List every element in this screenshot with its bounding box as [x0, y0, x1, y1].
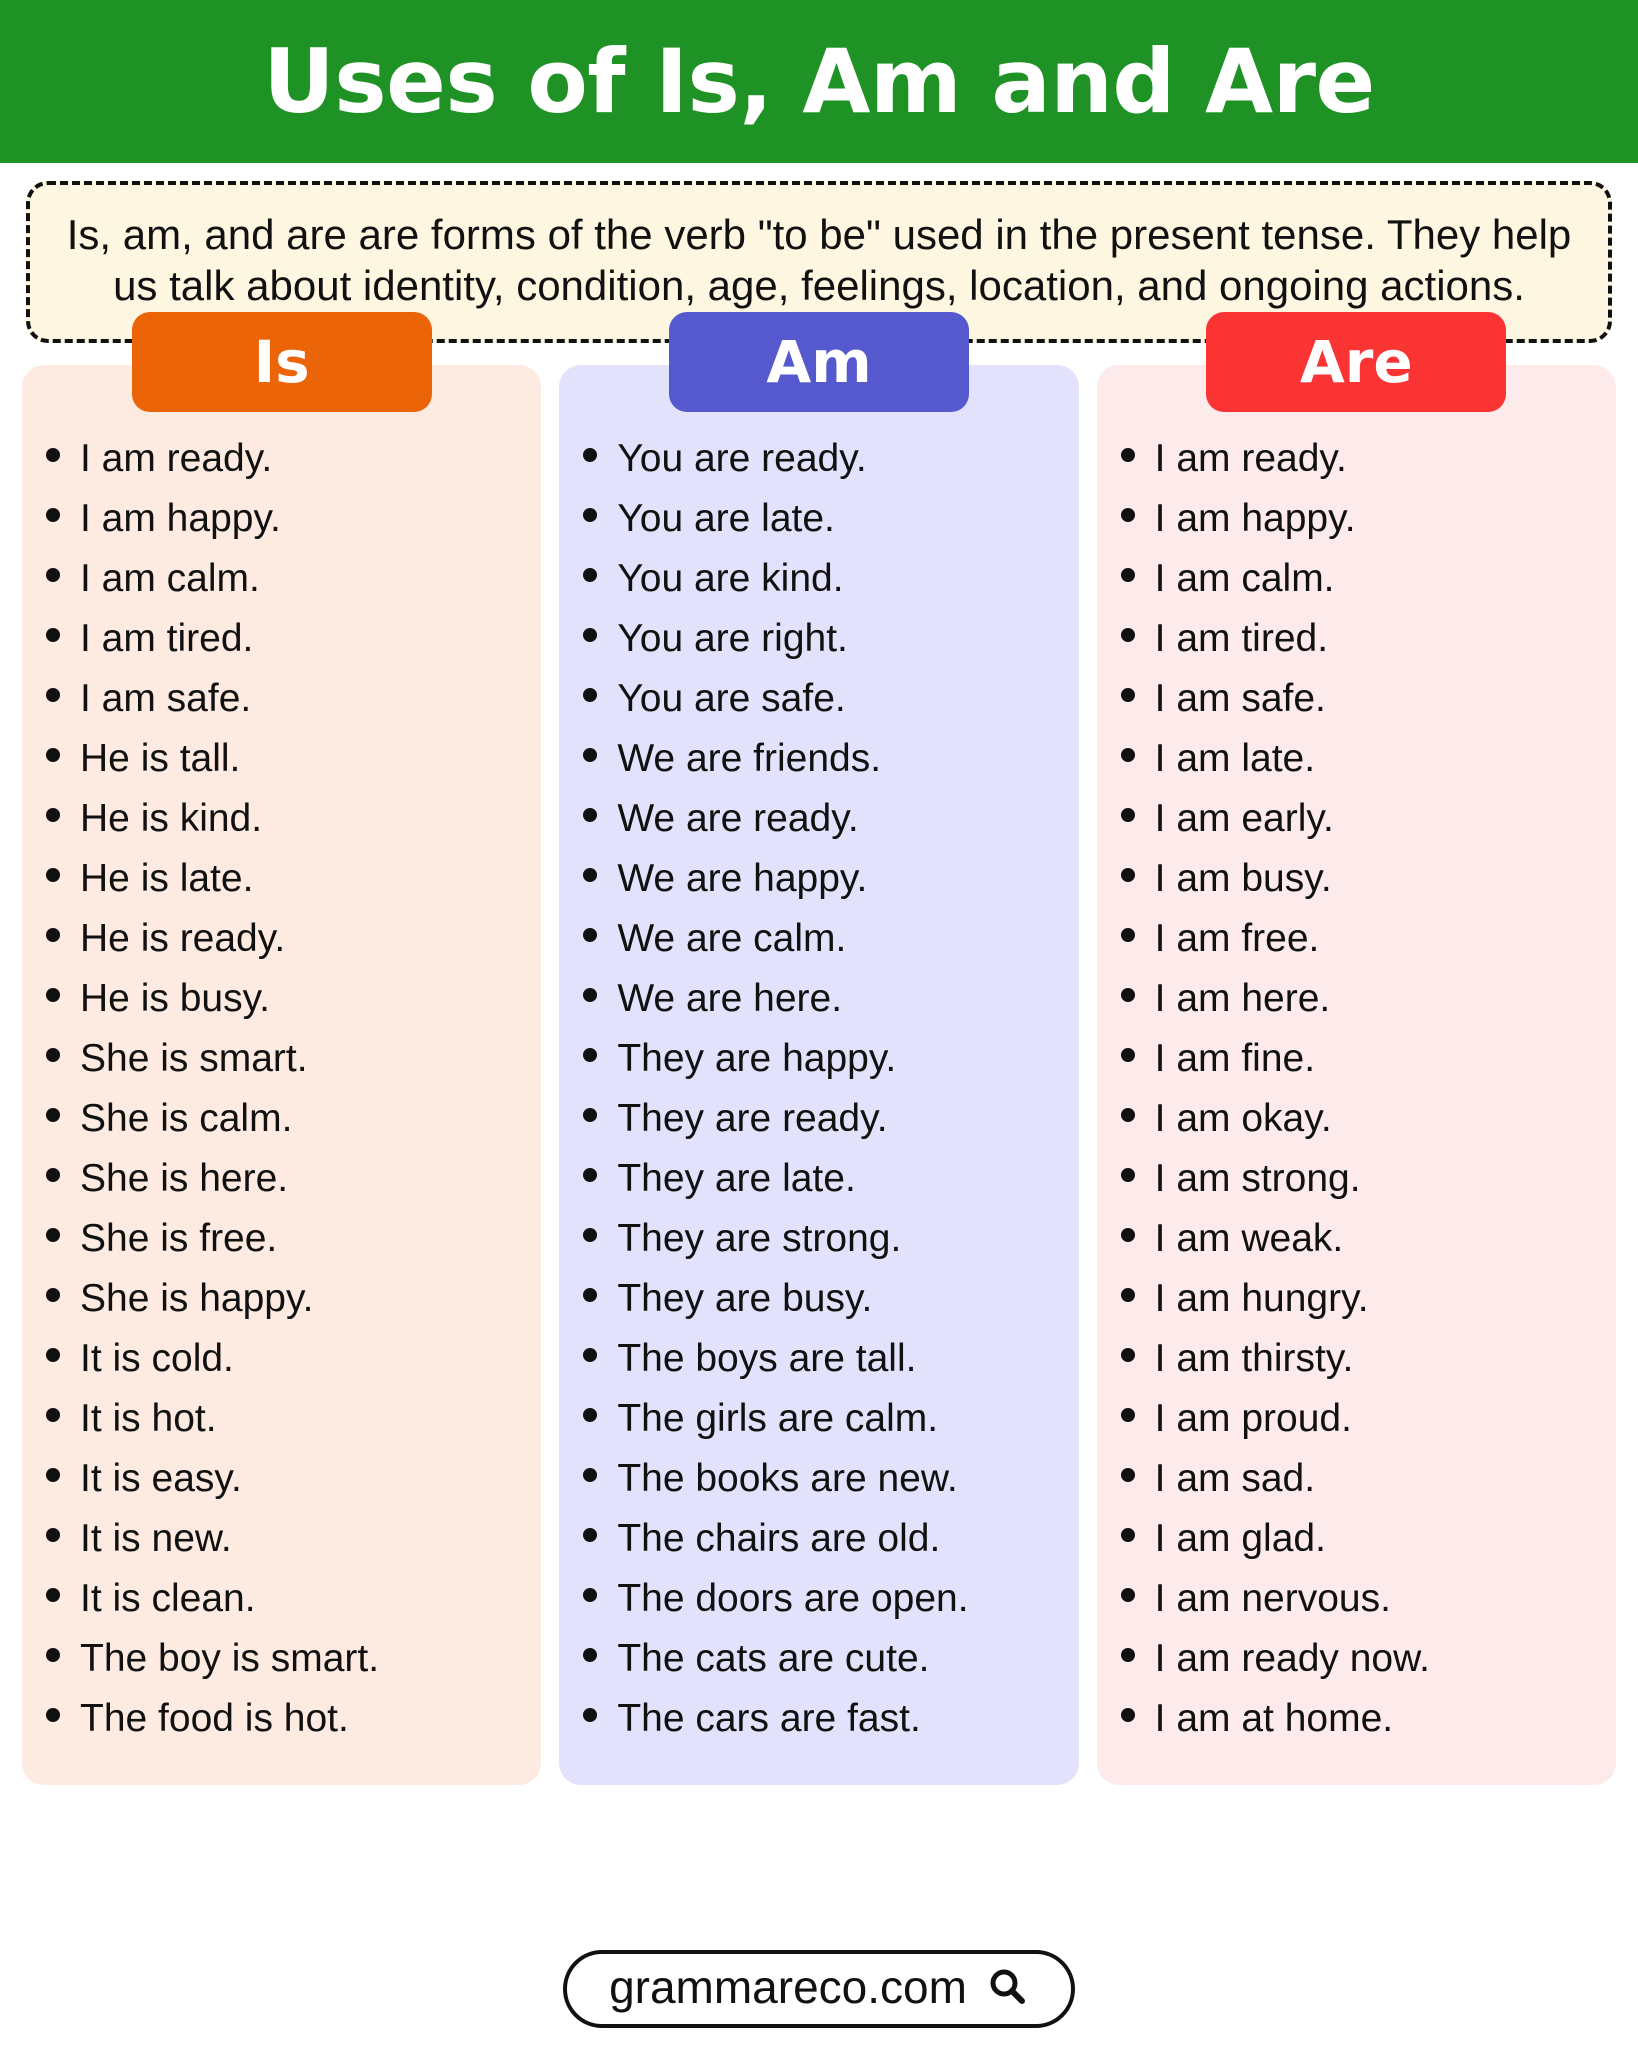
list-item-text: They are strong.	[617, 1219, 1068, 1258]
list-item-text: I am happy.	[80, 499, 531, 538]
list-item-text: I am ready.	[80, 439, 531, 478]
list-item: I am okay.	[1121, 1099, 1606, 1138]
bullet-icon	[1121, 928, 1135, 942]
search-icon	[985, 1965, 1029, 2009]
list-item: It is hot.	[46, 1399, 531, 1438]
list-item: They are happy.	[583, 1039, 1068, 1078]
column-am: Am You are ready. You are late. You are …	[559, 365, 1078, 1785]
list-item-text: We are happy.	[617, 859, 1068, 898]
bullet-icon	[46, 1708, 60, 1722]
bullet-icon	[46, 988, 60, 1002]
list-item: We are happy.	[583, 859, 1068, 898]
bullet-icon	[1121, 1468, 1135, 1482]
column-badge-is: Is	[132, 312, 432, 412]
list-item: I am tired.	[1121, 619, 1606, 658]
item-list-are: I am ready. I am happy. I am calm. I am …	[1107, 439, 1606, 1738]
list-item-text: She is calm.	[80, 1099, 531, 1138]
list-item: I am late.	[1121, 739, 1606, 778]
bullet-icon	[583, 808, 597, 822]
bullet-icon	[1121, 1168, 1135, 1182]
list-item: I am here.	[1121, 979, 1606, 1018]
list-item: The food is hot.	[46, 1699, 531, 1738]
list-item: It is new.	[46, 1519, 531, 1558]
bullet-icon	[1121, 1528, 1135, 1542]
bullet-icon	[583, 1648, 597, 1662]
item-list-am: You are ready. You are late. You are kin…	[569, 439, 1068, 1738]
list-item: They are busy.	[583, 1279, 1068, 1318]
bullet-icon	[583, 568, 597, 582]
list-item: I am glad.	[1121, 1519, 1606, 1558]
bullet-icon	[1121, 628, 1135, 642]
bullet-icon	[46, 1648, 60, 1662]
bullet-icon	[1121, 1288, 1135, 1302]
list-item: I am happy.	[1121, 499, 1606, 538]
list-item-text: We are calm.	[617, 919, 1068, 958]
bullet-icon	[583, 1408, 597, 1422]
list-item: You are safe.	[583, 679, 1068, 718]
bullet-icon	[46, 928, 60, 942]
list-item: I am thirsty.	[1121, 1339, 1606, 1378]
bullet-icon	[1121, 1048, 1135, 1062]
list-item: The cats are cute.	[583, 1639, 1068, 1678]
list-item-text: The cats are cute.	[617, 1639, 1068, 1678]
list-item-text: It is new.	[80, 1519, 531, 1558]
columns-container: Is I am ready. I am happy. I am calm. I …	[0, 343, 1638, 1930]
list-item-text: The boys are tall.	[617, 1339, 1068, 1378]
list-item-text: I am glad.	[1155, 1519, 1606, 1558]
bullet-icon	[1121, 868, 1135, 882]
list-item: You are kind.	[583, 559, 1068, 598]
list-item-text: I am tired.	[80, 619, 531, 658]
bullet-icon	[46, 808, 60, 822]
list-item-text: I am at home.	[1155, 1699, 1606, 1738]
list-item-text: We are ready.	[617, 799, 1068, 838]
bullet-icon	[46, 628, 60, 642]
list-item: You are right.	[583, 619, 1068, 658]
list-item: He is ready.	[46, 919, 531, 958]
bullet-icon	[46, 1048, 60, 1062]
list-item-text: I am busy.	[1155, 859, 1606, 898]
list-item-text: I am late.	[1155, 739, 1606, 778]
list-item-text: You are late.	[617, 499, 1068, 538]
bullet-icon	[583, 1168, 597, 1182]
bullet-icon	[583, 1468, 597, 1482]
list-item-text: I am early.	[1155, 799, 1606, 838]
list-item-text: I am hungry.	[1155, 1279, 1606, 1318]
list-item-text: The cars are fast.	[617, 1699, 1068, 1738]
list-item: I am proud.	[1121, 1399, 1606, 1438]
list-item-text: I am safe.	[1155, 679, 1606, 718]
list-item: She is smart.	[46, 1039, 531, 1078]
list-item: He is busy.	[46, 979, 531, 1018]
list-item-text: I am fine.	[1155, 1039, 1606, 1078]
bullet-icon	[1121, 1108, 1135, 1122]
bullet-icon	[1121, 448, 1135, 462]
list-item: It is easy.	[46, 1459, 531, 1498]
bullet-icon	[46, 1348, 60, 1362]
column-badge-label-is: Is	[254, 333, 310, 391]
list-item-text: I am free.	[1155, 919, 1606, 958]
bullet-icon	[583, 1528, 597, 1542]
bullet-icon	[46, 688, 60, 702]
list-item-text: He is busy.	[80, 979, 531, 1018]
list-item-text: The doors are open.	[617, 1579, 1068, 1618]
list-item: She is here.	[46, 1159, 531, 1198]
column-is: Is I am ready. I am happy. I am calm. I …	[22, 365, 541, 1785]
list-item-text: I am nervous.	[1155, 1579, 1606, 1618]
list-item: You are ready.	[583, 439, 1068, 478]
intro-text: Is, am, and are are forms of the verb "t…	[66, 209, 1572, 311]
bullet-icon	[583, 1348, 597, 1362]
list-item: He is kind.	[46, 799, 531, 838]
list-item: I am tired.	[46, 619, 531, 658]
list-item-text: I am sad.	[1155, 1459, 1606, 1498]
bullet-icon	[46, 1168, 60, 1182]
list-item: She is calm.	[46, 1099, 531, 1138]
bullet-icon	[46, 1588, 60, 1602]
list-item-text: They are happy.	[617, 1039, 1068, 1078]
list-item-text: They are busy.	[617, 1279, 1068, 1318]
list-item: The boys are tall.	[583, 1339, 1068, 1378]
list-item-text: She is smart.	[80, 1039, 531, 1078]
column-badge-am: Am	[669, 312, 969, 412]
list-item-text: We are here.	[617, 979, 1068, 1018]
list-item-text: I am thirsty.	[1155, 1339, 1606, 1378]
column-badge-label-am: Am	[766, 333, 871, 391]
bullet-icon	[46, 1228, 60, 1242]
list-item: They are strong.	[583, 1219, 1068, 1258]
list-item: We are ready.	[583, 799, 1068, 838]
list-item-text: She is happy.	[80, 1279, 531, 1318]
footer: grammareco.com	[0, 1930, 1638, 2048]
list-item: I am strong.	[1121, 1159, 1606, 1198]
bullet-icon	[46, 748, 60, 762]
list-item-text: I am safe.	[80, 679, 531, 718]
list-item: They are ready.	[583, 1099, 1068, 1138]
list-item: She is happy.	[46, 1279, 531, 1318]
list-item-text: She is free.	[80, 1219, 531, 1258]
bullet-icon	[583, 928, 597, 942]
bullet-icon	[583, 1708, 597, 1722]
list-item: We are calm.	[583, 919, 1068, 958]
list-item-text: He is kind.	[80, 799, 531, 838]
list-item: I am ready now.	[1121, 1639, 1606, 1678]
bullet-icon	[46, 868, 60, 882]
bullet-icon	[46, 448, 60, 462]
list-item-text: It is easy.	[80, 1459, 531, 1498]
list-item-text: I am proud.	[1155, 1399, 1606, 1438]
list-item-text: It is clean.	[80, 1579, 531, 1618]
list-item-text: She is here.	[80, 1159, 531, 1198]
list-item: They are late.	[583, 1159, 1068, 1198]
list-item: We are here.	[583, 979, 1068, 1018]
bullet-icon	[1121, 748, 1135, 762]
bullet-icon	[46, 568, 60, 582]
list-item-text: I am happy.	[1155, 499, 1606, 538]
poster-root: Uses of Is, Am and Are Is, am, and are a…	[0, 0, 1638, 2048]
list-item: I am sad.	[1121, 1459, 1606, 1498]
bullet-icon	[46, 1408, 60, 1422]
list-item: I am fine.	[1121, 1039, 1606, 1078]
list-item-text: They are ready.	[617, 1099, 1068, 1138]
footer-website-pill[interactable]: grammareco.com	[563, 1950, 1075, 2028]
list-item: I am hungry.	[1121, 1279, 1606, 1318]
header-banner: Uses of Is, Am and Are	[0, 0, 1638, 163]
list-item: I am busy.	[1121, 859, 1606, 898]
list-item: I am happy.	[46, 499, 531, 538]
bullet-icon	[1121, 688, 1135, 702]
bullet-icon	[46, 1528, 60, 1542]
list-item: He is tall.	[46, 739, 531, 778]
bullet-icon	[583, 688, 597, 702]
bullet-icon	[1121, 1588, 1135, 1602]
bullet-icon	[583, 988, 597, 1002]
list-item-text: I am tired.	[1155, 619, 1606, 658]
bullet-icon	[583, 868, 597, 882]
bullet-icon	[1121, 988, 1135, 1002]
bullet-icon	[46, 508, 60, 522]
list-item: It is cold.	[46, 1339, 531, 1378]
list-item-text: The chairs are old.	[617, 1519, 1068, 1558]
list-item: I am at home.	[1121, 1699, 1606, 1738]
list-item-text: I am here.	[1155, 979, 1606, 1018]
list-item-text: They are late.	[617, 1159, 1068, 1198]
list-item: I am free.	[1121, 919, 1606, 958]
list-item-text: You are safe.	[617, 679, 1068, 718]
list-item-text: It is cold.	[80, 1339, 531, 1378]
list-item-text: The books are new.	[617, 1459, 1068, 1498]
list-item: I am weak.	[1121, 1219, 1606, 1258]
item-list-is: I am ready. I am happy. I am calm. I am …	[32, 439, 531, 1738]
list-item: I am ready.	[46, 439, 531, 478]
bullet-icon	[583, 1108, 597, 1122]
column-are: Are I am ready. I am happy. I am calm. I…	[1097, 365, 1616, 1785]
list-item: The girls are calm.	[583, 1399, 1068, 1438]
list-item: The books are new.	[583, 1459, 1068, 1498]
list-item: You are late.	[583, 499, 1068, 538]
bullet-icon	[46, 1468, 60, 1482]
bullet-icon	[583, 748, 597, 762]
bullet-icon	[583, 1048, 597, 1062]
bullet-icon	[1121, 1708, 1135, 1722]
list-item: I am calm.	[1121, 559, 1606, 598]
list-item-text: He is late.	[80, 859, 531, 898]
list-item: She is free.	[46, 1219, 531, 1258]
list-item-text: I am calm.	[80, 559, 531, 598]
list-item: It is clean.	[46, 1579, 531, 1618]
list-item-text: We are friends.	[617, 739, 1068, 778]
bullet-icon	[1121, 568, 1135, 582]
list-item-text: You are kind.	[617, 559, 1068, 598]
bullet-icon	[1121, 808, 1135, 822]
list-item: The cars are fast.	[583, 1699, 1068, 1738]
list-item: We are friends.	[583, 739, 1068, 778]
list-item-text: I am ready.	[1155, 439, 1606, 478]
list-item-text: He is tall.	[80, 739, 531, 778]
bullet-icon	[583, 508, 597, 522]
list-item: The boy is smart.	[46, 1639, 531, 1678]
list-item-text: The girls are calm.	[617, 1399, 1068, 1438]
list-item-text: I am weak.	[1155, 1219, 1606, 1258]
list-item-text: You are ready.	[617, 439, 1068, 478]
list-item-text: It is hot.	[80, 1399, 531, 1438]
list-item: I am calm.	[46, 559, 531, 598]
page-title: Uses of Is, Am and Are	[263, 38, 1374, 126]
bullet-icon	[1121, 508, 1135, 522]
bullet-icon	[1121, 1408, 1135, 1422]
bullet-icon	[583, 1588, 597, 1602]
list-item-text: I am calm.	[1155, 559, 1606, 598]
list-item-text: I am strong.	[1155, 1159, 1606, 1198]
bullet-icon	[583, 448, 597, 462]
bullet-icon	[46, 1288, 60, 1302]
bullet-icon	[583, 628, 597, 642]
list-item-text: I am okay.	[1155, 1099, 1606, 1138]
list-item-text: He is ready.	[80, 919, 531, 958]
bullet-icon	[583, 1228, 597, 1242]
list-item: He is late.	[46, 859, 531, 898]
bullet-icon	[583, 1288, 597, 1302]
bullet-icon	[1121, 1648, 1135, 1662]
column-badge-label-are: Are	[1300, 333, 1413, 391]
list-item-text: The boy is smart.	[80, 1639, 531, 1678]
list-item-text: The food is hot.	[80, 1699, 531, 1738]
list-item: I am safe.	[1121, 679, 1606, 718]
list-item-text: I am ready now.	[1155, 1639, 1606, 1678]
list-item: The doors are open.	[583, 1579, 1068, 1618]
bullet-icon	[1121, 1228, 1135, 1242]
list-item: I am early.	[1121, 799, 1606, 838]
column-badge-are: Are	[1206, 312, 1506, 412]
list-item: The chairs are old.	[583, 1519, 1068, 1558]
bullet-icon	[46, 1108, 60, 1122]
list-item: I am ready.	[1121, 439, 1606, 478]
list-item-text: You are right.	[617, 619, 1068, 658]
list-item: I am nervous.	[1121, 1579, 1606, 1618]
bullet-icon	[1121, 1348, 1135, 1362]
footer-url-text: grammareco.com	[609, 1964, 967, 2010]
list-item: I am safe.	[46, 679, 531, 718]
